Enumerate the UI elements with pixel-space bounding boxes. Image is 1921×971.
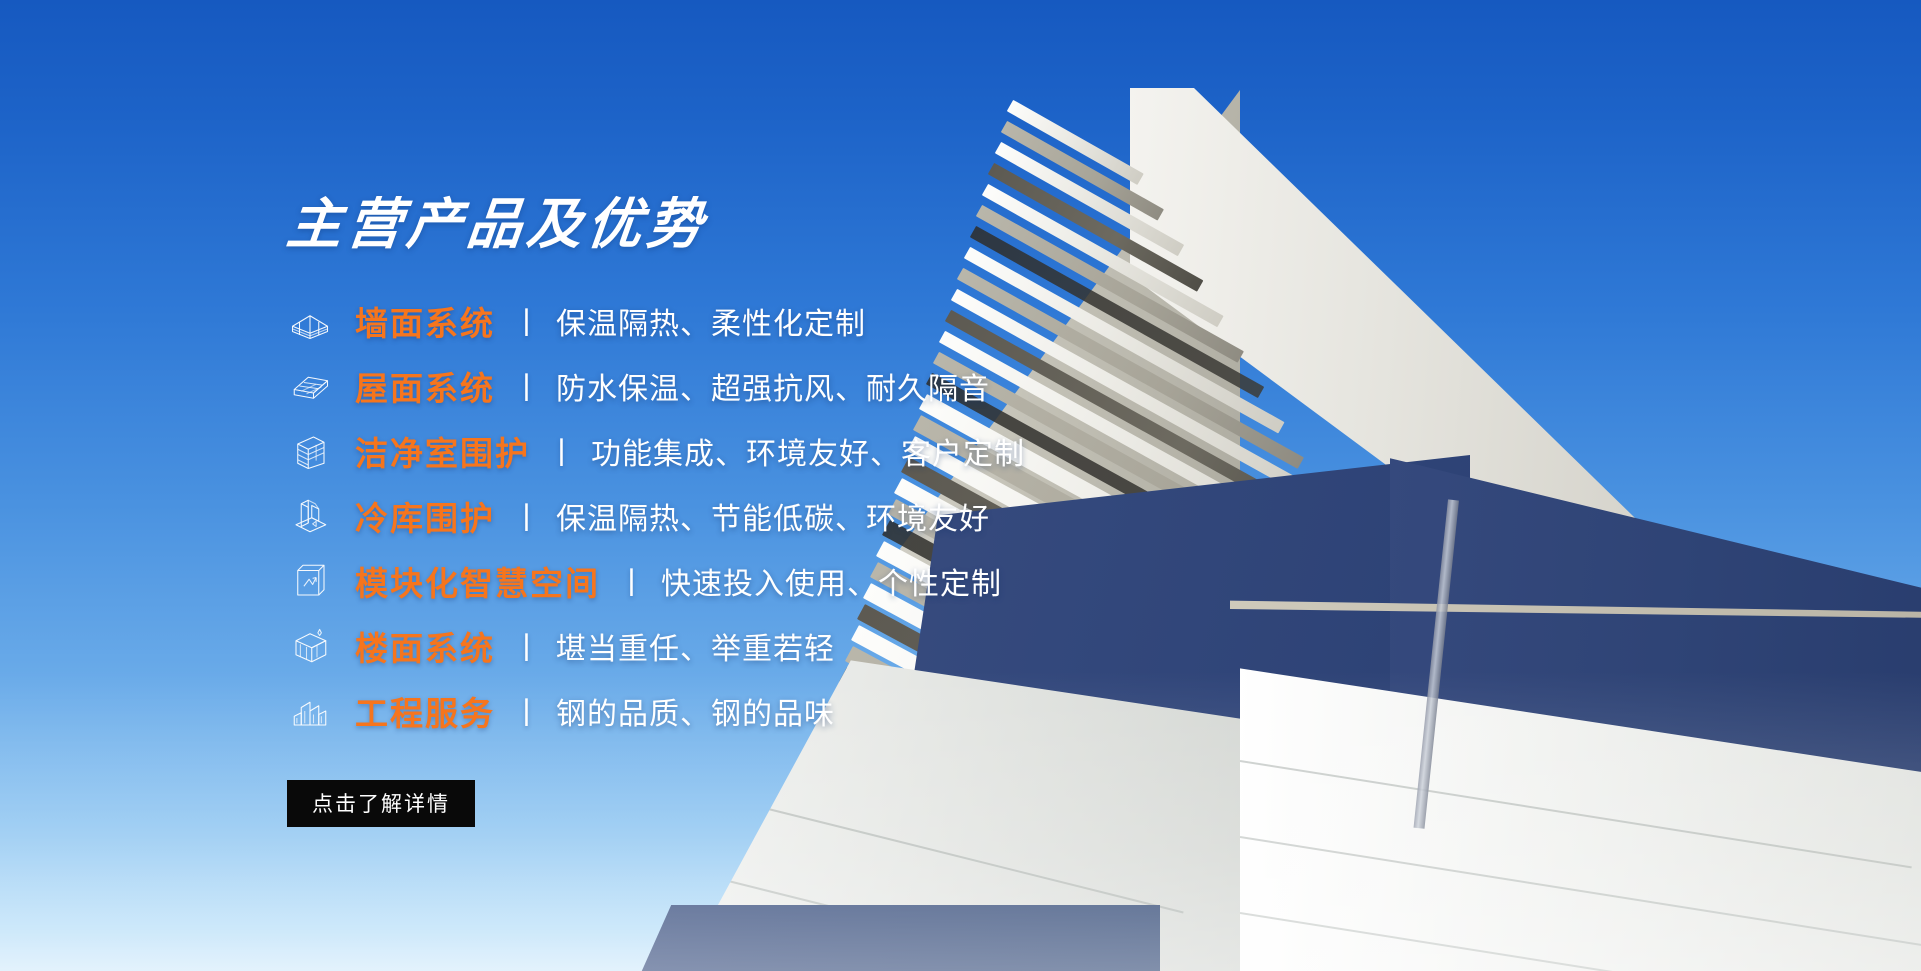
list-item[interactable]: 洁净室围护 丨 功能集成、环境友好、客户定制	[287, 424, 1387, 478]
product-description: 保温隔热、节能低碳、环境友好	[556, 494, 990, 538]
list-item[interactable]: 屋面系统 丨 防水保温、超强抗风、耐久隔音	[287, 359, 1387, 413]
separator-bar: 丨	[516, 690, 538, 732]
wall-system-icon	[287, 298, 333, 344]
product-advantage-banner: 主营产品及优势 墙面系统 丨 保温隔热、柔性化定制	[0, 0, 1921, 971]
list-item[interactable]: 模块化智慧空间 丨 快速投入使用、个性定制	[287, 554, 1387, 608]
separator-bar: 丨	[516, 300, 538, 342]
panel-seam	[640, 932, 1208, 971]
separator-bar: 丨	[516, 625, 538, 667]
product-category: 屋面系统	[355, 362, 495, 410]
product-description: 防水保温、超强抗风、耐久隔音	[556, 364, 990, 408]
product-category: 墙面系统	[355, 297, 495, 345]
product-list: 墙面系统 丨 保温隔热、柔性化定制 屋面系统 丨	[287, 294, 1387, 738]
separator-bar: 丨	[516, 495, 538, 537]
product-category: 模块化智慧空间	[355, 557, 600, 605]
modular-smart-space-icon	[287, 558, 333, 604]
product-description: 功能集成、环境友好、客户定制	[591, 429, 1025, 473]
product-category: 工程服务	[355, 687, 495, 735]
list-item[interactable]: 工程服务 丨 钢的品质、钢的品味	[287, 684, 1387, 738]
product-category: 楼面系统	[355, 622, 495, 670]
cleanroom-enclosure-icon	[287, 428, 333, 474]
list-item[interactable]: 楼面系统 丨 堪当重任、举重若轻	[287, 619, 1387, 673]
panel-seam	[640, 858, 1198, 971]
list-item[interactable]: 冷库围护 丨 保温隔热、节能低碳、环境友好	[287, 489, 1387, 543]
banner-content: 主营产品及优势 墙面系统 丨 保温隔热、柔性化定制	[287, 196, 1387, 827]
separator-bar: 丨	[551, 430, 573, 472]
product-description: 快速投入使用、个性定制	[661, 559, 1002, 603]
product-category: 冷库围护	[355, 492, 495, 540]
floor-system-icon	[287, 623, 333, 669]
facade-band	[1007, 100, 1144, 185]
separator-bar: 丨	[516, 365, 538, 407]
panel-seam	[1240, 912, 1921, 971]
lower-blue-panel-right	[1390, 430, 1921, 900]
separator-bar: 丨	[621, 560, 643, 602]
list-item[interactable]: 墙面系统 丨 保温隔热、柔性化定制	[287, 294, 1387, 348]
product-description: 堪当重任、举重若轻	[556, 624, 835, 668]
cold-storage-enclosure-icon	[287, 493, 333, 539]
product-description: 保温隔热、柔性化定制	[556, 299, 866, 343]
ground-level-band	[640, 905, 1160, 971]
product-description: 钢的品质、钢的品味	[556, 689, 835, 733]
panel-seam	[1240, 836, 1921, 946]
learn-more-button[interactable]: 点击了解详情	[287, 780, 475, 827]
page-title: 主营产品及优势	[284, 196, 1390, 254]
roof-system-icon	[287, 363, 333, 409]
downpipe	[1414, 499, 1459, 828]
engineering-service-icon	[287, 688, 333, 734]
product-category: 洁净室围护	[355, 427, 530, 475]
